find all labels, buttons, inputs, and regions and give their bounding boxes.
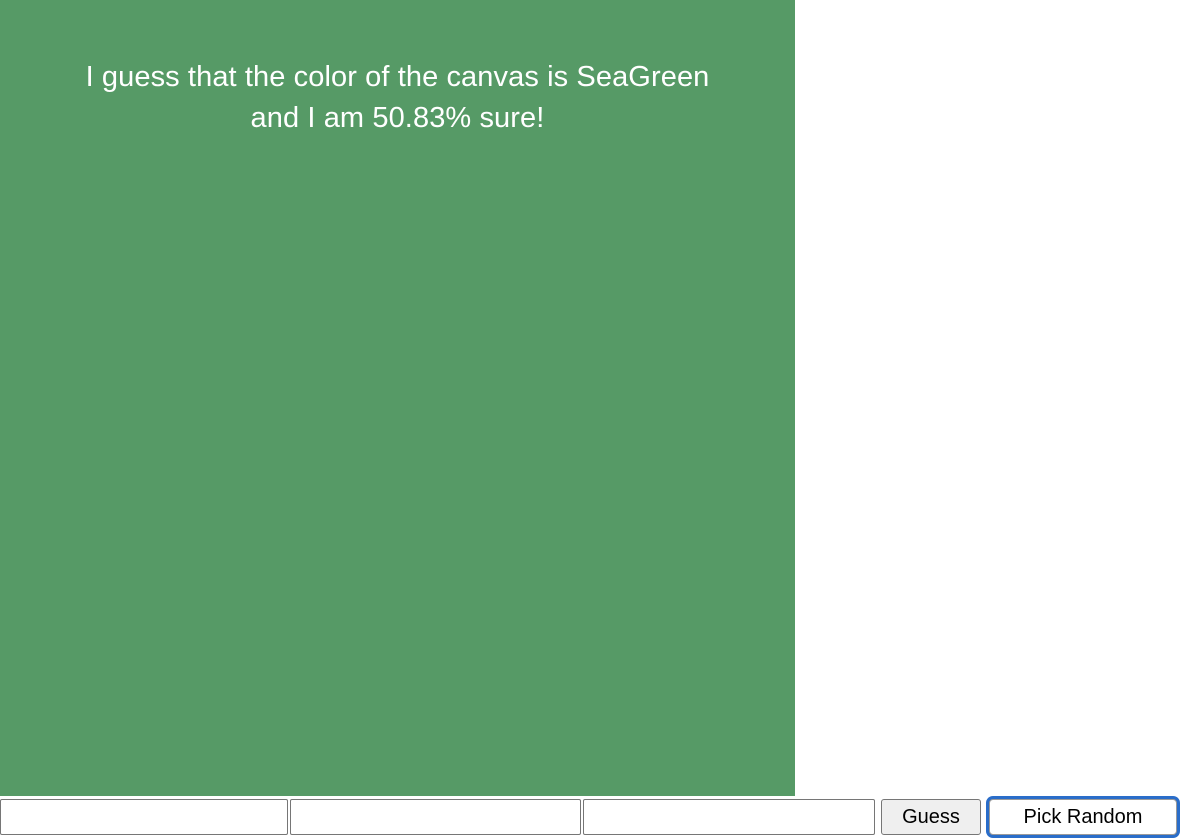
blue-input[interactable] bbox=[583, 799, 875, 835]
app-root: I guess that the color of the canvas is … bbox=[0, 0, 1180, 840]
red-input[interactable] bbox=[0, 799, 288, 835]
controls-bar: Guess Pick Random bbox=[0, 799, 1180, 837]
color-canvas[interactable]: I guess that the color of the canvas is … bbox=[0, 0, 795, 796]
guess-button[interactable]: Guess bbox=[881, 799, 981, 835]
guess-message: I guess that the color of the canvas is … bbox=[0, 57, 795, 139]
pick-random-button[interactable]: Pick Random bbox=[989, 799, 1177, 835]
green-input[interactable] bbox=[290, 799, 581, 835]
